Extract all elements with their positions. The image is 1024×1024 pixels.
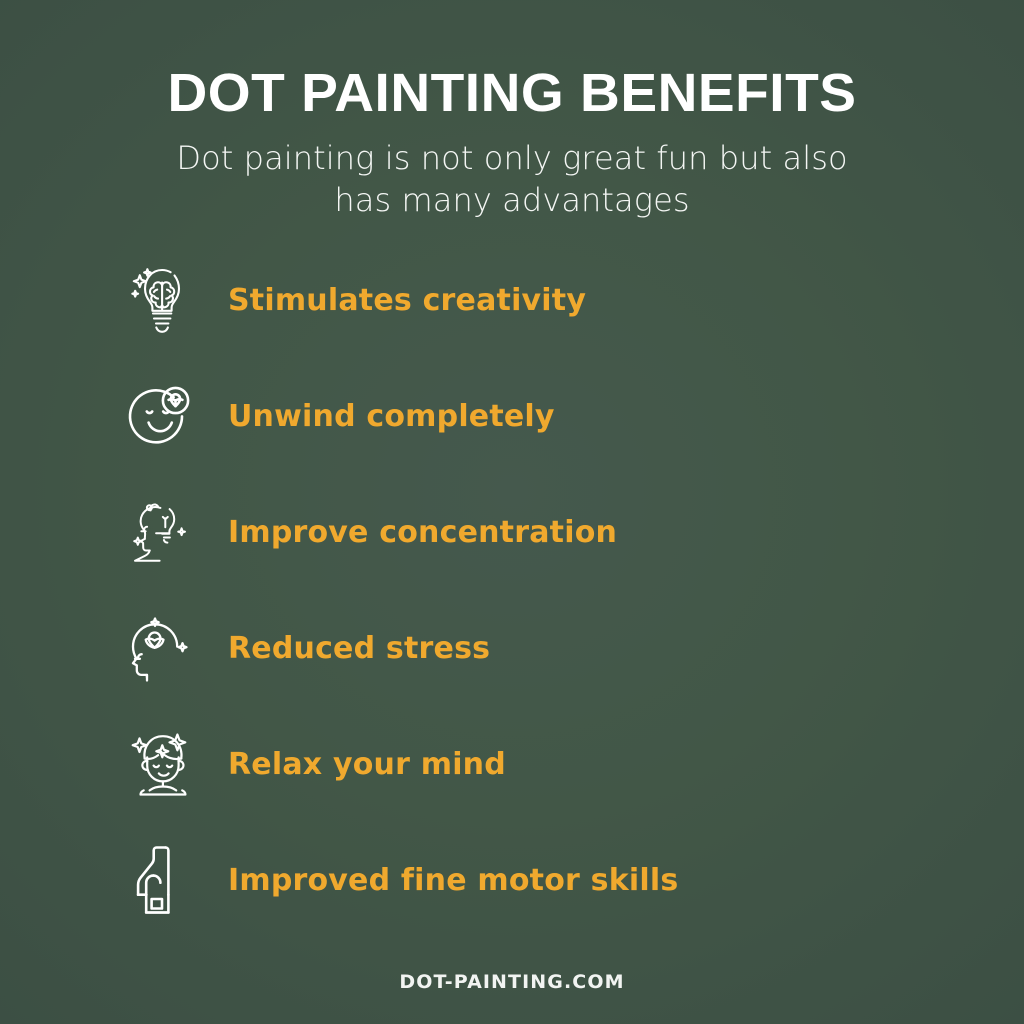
poster-header: DOT PAINTING BENEFITS Dot painting is no… [0,0,1024,222]
list-item-label: Reduced stress [228,631,490,666]
benefits-list: Stimulates creativity Unwind completely [0,264,1024,917]
list-item-label: Stimulates creativity [228,283,586,318]
head-lotus-icon [129,612,203,685]
list-item: Improve concentration [129,496,1024,569]
face-stars-icon [129,728,203,801]
infographic-poster: DOT PAINTING BENEFITS Dot painting is no… [0,0,1024,1024]
list-item-label: Improve concentration [228,515,617,550]
website-label: DOT-PAINTING.COM [399,971,624,993]
page-title: DOT PAINTING BENEFITS [0,66,1024,121]
lightbulb-brain-icon [129,264,203,337]
list-item-label: Improved fine motor skills [228,863,678,898]
smiley-flower-icon [129,380,203,453]
hand-tool-icon [129,844,203,917]
list-item: Stimulates creativity [129,264,1024,337]
head-lightbulb-icon [129,496,203,569]
head-lotus-icon-row: Reduced stress [129,612,1024,685]
list-item: Relax your mind [129,728,1024,801]
page-subtitle: Dot painting is not only great fun but a… [147,138,877,222]
list-item-label: Relax your mind [228,747,506,782]
list-item: Unwind completely [129,380,1024,453]
list-item-label: Unwind completely [228,399,555,434]
list-item: Improved fine motor skills [129,844,1024,917]
footer: DOT-PAINTING.COM [0,971,1024,993]
